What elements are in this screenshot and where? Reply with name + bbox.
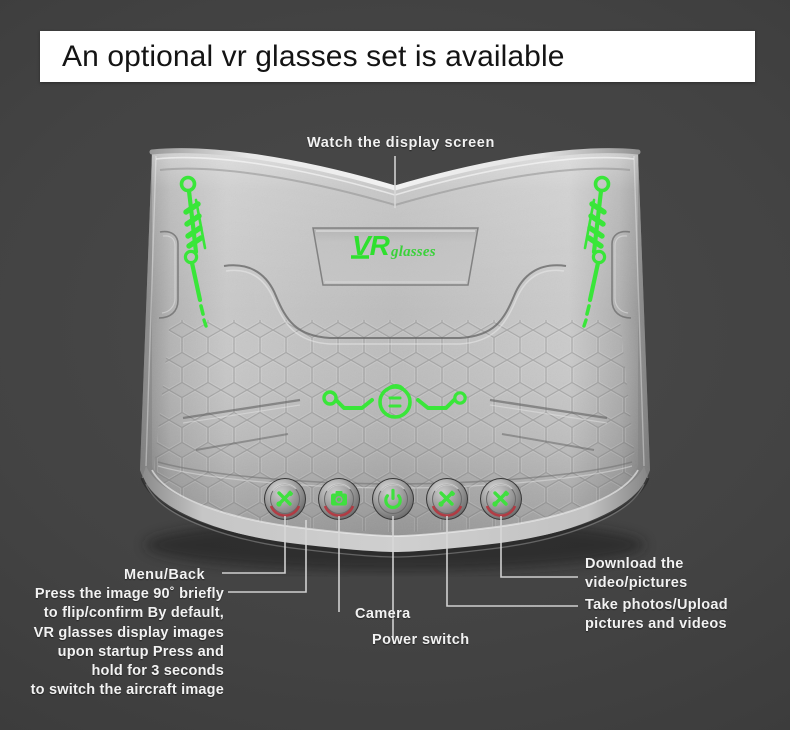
callout-download-media: Download the video/pictures [585, 555, 688, 593]
button-camera[interactable] [318, 478, 360, 520]
brand-logo-glasses: glasses [390, 244, 436, 260]
callout-power-switch: Power switch [372, 631, 469, 650]
callout-press-instructions: Press the image 90˚ briefly to flip/conf… [14, 585, 224, 701]
callout-camera: Camera [355, 605, 411, 624]
callout-take-photos: Take photos/Upload pictures and videos [585, 596, 728, 634]
button-menu-back[interactable] [264, 478, 306, 520]
callout-watch-display: Watch the display screen [307, 134, 495, 153]
button-take-photos[interactable] [426, 478, 468, 520]
product-illustration-stage: VR glasses [0, 0, 790, 730]
callout-menu-back: Menu/Back [124, 566, 205, 585]
button-download-media[interactable] [480, 478, 522, 520]
button-power-switch[interactable] [372, 478, 414, 520]
